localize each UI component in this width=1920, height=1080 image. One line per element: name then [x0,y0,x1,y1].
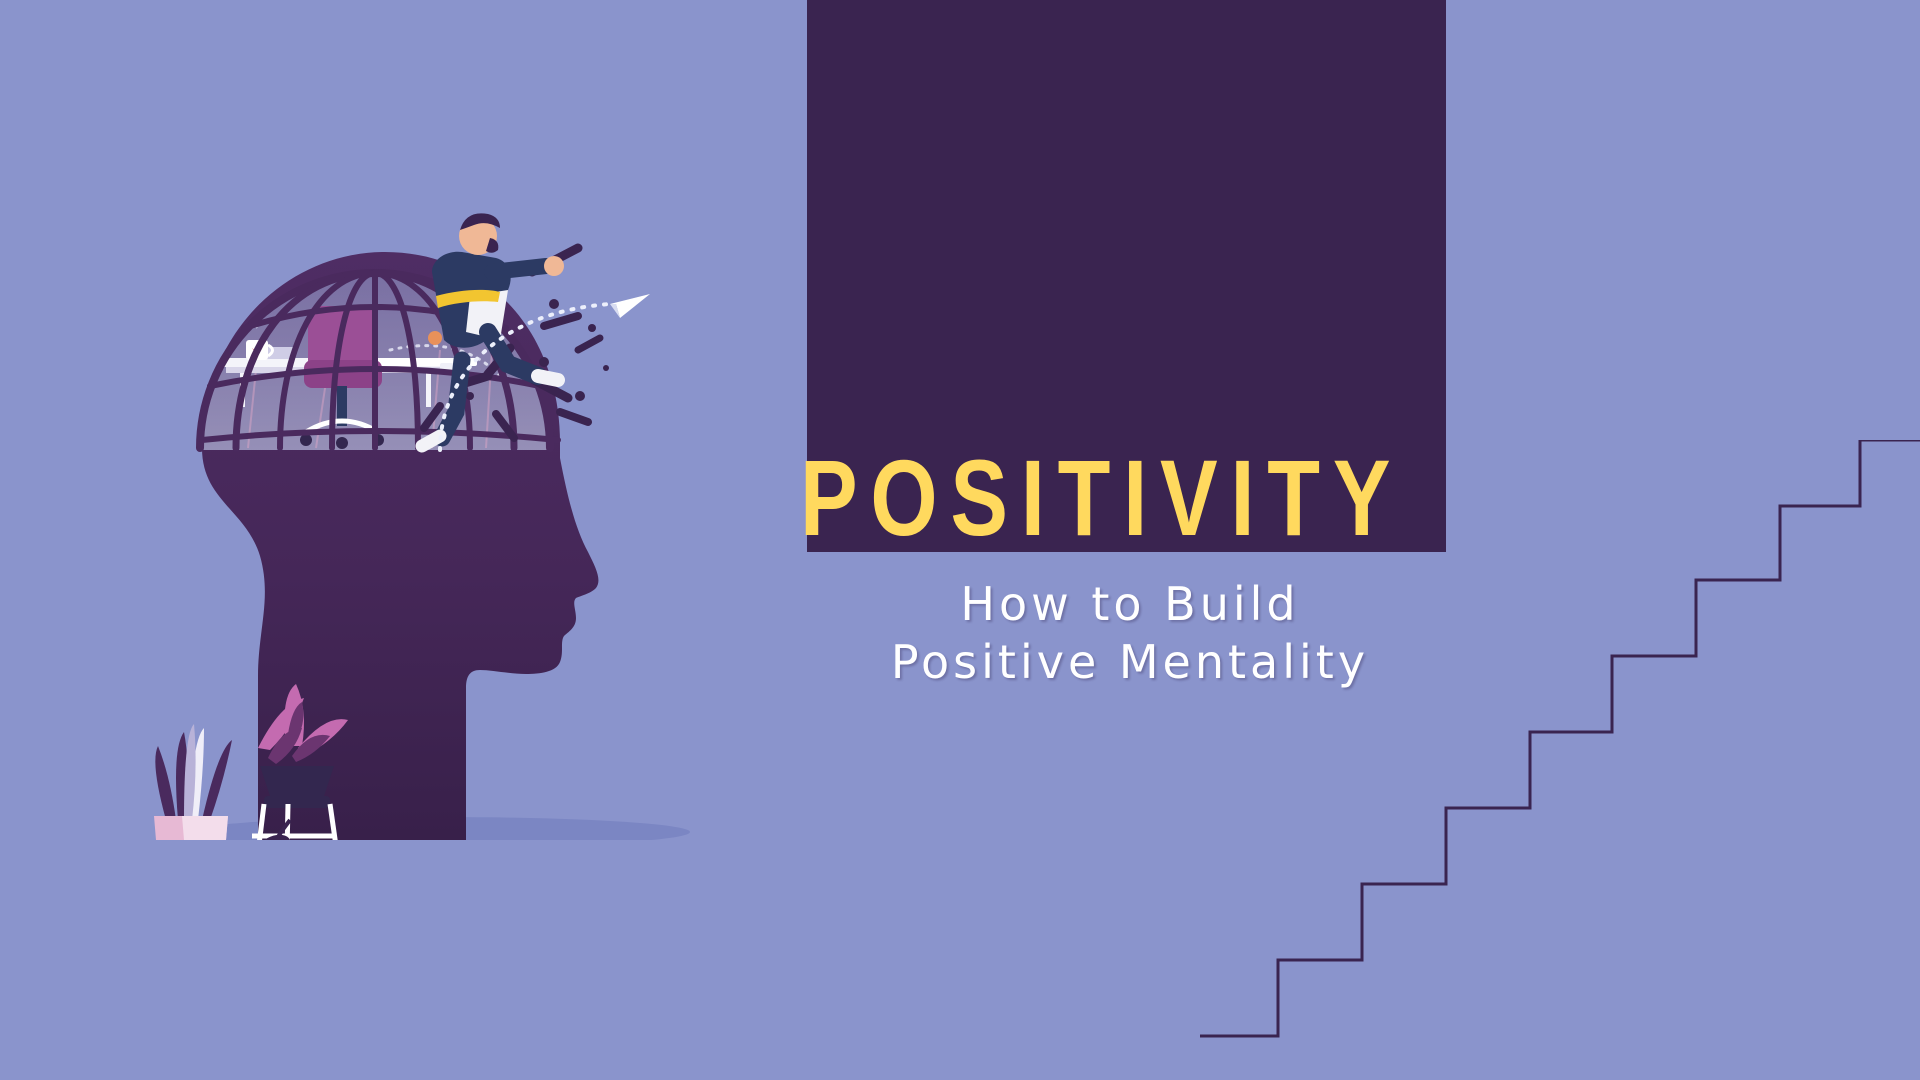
head-illustration [140,200,760,840]
spark-dot [428,331,442,345]
staircase-outline [1200,440,1920,1080]
poster-canvas: POSITIVITY How to Build Positive Mentali… [0,0,1920,1080]
floor-vase [154,724,232,840]
rising-staircase [1200,440,1920,1080]
